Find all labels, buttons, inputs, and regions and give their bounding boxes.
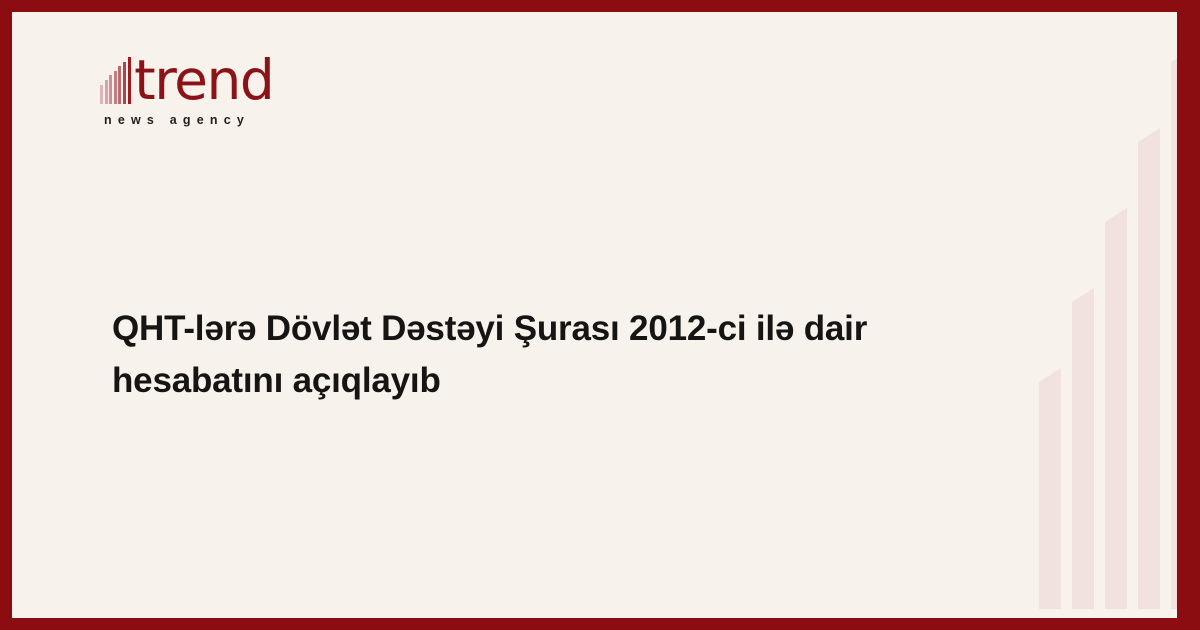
logo-mark-bar [109, 75, 112, 104]
decoration-bar [1072, 288, 1094, 609]
card-canvas: trend news agency QHT-lərə Dövlət Dəstəy… [12, 12, 1177, 618]
logo-mark-bar [118, 66, 121, 104]
logo-mark-bar [100, 85, 103, 104]
logo-mark-bar [128, 57, 131, 104]
share-card-frame: trend news agency QHT-lərə Dövlət Dəstəy… [0, 0, 1200, 630]
logo-mark-row: trend [100, 48, 360, 104]
ascending-bars-decoration [997, 12, 1177, 618]
logo-mark-bar [105, 80, 108, 104]
decoration-bar [1105, 208, 1127, 609]
decoration-bar [1138, 128, 1160, 609]
ascending-bars-decoration-svg [997, 12, 1177, 618]
logo-mark-bar [123, 62, 126, 104]
logo-tagline: news agency [104, 113, 360, 127]
decoration-bar [1039, 368, 1061, 609]
trend-news-agency-logo[interactable]: trend news agency [100, 48, 360, 127]
headline: QHT-lərə Dövlət Dəstəyi Şurası 2012-ci i… [112, 303, 972, 407]
decoration-bar [1171, 48, 1177, 609]
logo-wordmark: trend [134, 56, 273, 104]
ascending-bars-mark-icon [100, 56, 132, 104]
logo-mark-bar [114, 71, 117, 104]
